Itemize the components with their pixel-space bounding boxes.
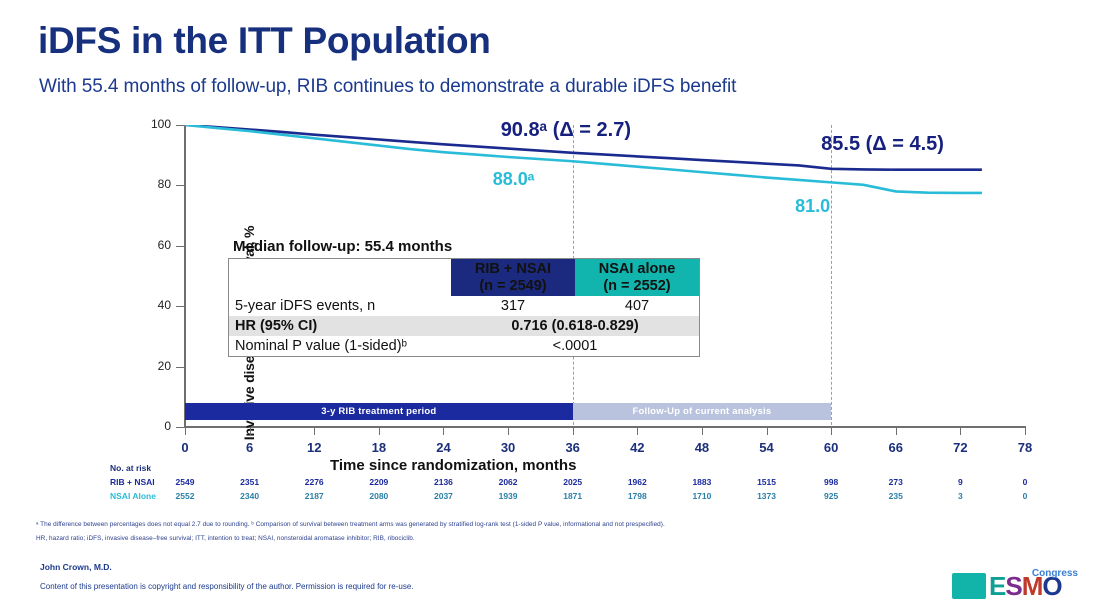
x-tick [443,427,444,435]
x-tick-label: 48 [687,440,717,455]
risk-value: 0 [1008,477,1042,487]
table-row: 5-year iDFS events, n 317 407 [229,296,700,316]
risk-value: 2080 [362,491,396,501]
x-tick [960,427,961,435]
table-header-rib-line2: (n = 2549) [457,278,569,295]
y-tick-label: 100 [129,117,171,131]
y-tick-label: 0 [129,419,171,433]
y-tick-label: 20 [129,359,171,373]
risk-value: 2351 [233,477,267,487]
footnote-line-2: HR, hazard ratio; iDFS, invasive disease… [36,534,796,544]
x-tick [573,427,574,435]
y-tick [176,306,185,307]
table-header-rib: RIB + NSAI (n = 2549) [451,259,575,297]
x-tick-label: 0 [170,440,200,455]
x-tick [767,427,768,435]
risk-value: 2209 [362,477,396,487]
y-tick [176,246,185,247]
risk-value: 1515 [750,477,784,487]
x-tick-label: 66 [881,440,911,455]
risk-value: 2552 [168,491,202,501]
x-tick-label: 6 [235,440,265,455]
risk-value: 2187 [297,491,331,501]
row-label-idfs-events: 5-year iDFS events, n [229,296,452,316]
esmo-logo-mark [952,573,986,599]
x-tick [185,427,186,435]
x-tick-label: 36 [558,440,588,455]
table-header-rib-line1: RIB + NSAI [457,261,569,278]
curve-annotation: 81.0 [795,196,830,217]
table-header-nsai: NSAI alone (n = 2552) [575,259,700,297]
y-tick [176,427,185,428]
table-row: Nominal P value (1-sided)ᵇ <.0001 [229,336,700,357]
x-axis-title: Time since randomization, months [330,457,576,474]
risk-value: 1883 [685,477,719,487]
cell-idfs-events-nsai: 407 [575,296,700,316]
risk-value: 1962 [620,477,654,487]
risk-row-label: RIB + NSAI [110,477,155,487]
table-corner-cell [229,259,452,297]
y-tick-label: 40 [129,298,171,312]
page-subtitle: With 55.4 months of follow-up, RIB conti… [39,76,736,98]
risk-value: 1871 [556,491,590,501]
risk-value: 9 [943,477,977,487]
esmo-logo: ESMO Congress [952,566,1080,606]
y-tick [176,367,185,368]
x-tick [637,427,638,435]
cell-idfs-events-rib: 317 [451,296,575,316]
risk-value: 2025 [556,477,590,487]
y-tick [176,185,185,186]
risk-value: 1710 [685,491,719,501]
results-table: RIB + NSAI (n = 2549) NSAI alone (n = 25… [228,258,700,357]
cell-pvalue: <.0001 [451,336,700,357]
x-tick [1025,427,1026,435]
x-tick-label: 78 [1010,440,1040,455]
slide-root: iDFS in the ITT Population With 55.4 mon… [0,0,1098,616]
esmo-logo-congress: Congress [1032,568,1078,579]
risk-value: 1373 [750,491,784,501]
table-row: HR (95% CI) 0.716 (0.618-0.829) [229,316,700,336]
risk-value: 2340 [233,491,267,501]
risk-value: 2037 [426,491,460,501]
median-followup-label: Median follow-up: 55.4 months [233,238,452,255]
risk-value: 2276 [297,477,331,487]
table-header-nsai-line1: NSAI alone [581,261,693,278]
x-tick-label: 18 [364,440,394,455]
x-tick-label: 54 [752,440,782,455]
cell-hr-value: 0.716 (0.618-0.829) [451,316,700,336]
copyright-note: Content of this presentation is copyrigh… [40,582,414,591]
risk-table-header: No. at risk [110,463,151,473]
x-tick-label: 60 [816,440,846,455]
x-tick-label: 42 [622,440,652,455]
risk-value: 235 [879,491,913,501]
x-tick [508,427,509,435]
risk-value: 2062 [491,477,525,487]
footnote-line-1: ᵃ The difference between percentages doe… [36,520,796,530]
risk-value: 925 [814,491,848,501]
x-tick-label: 12 [299,440,329,455]
risk-row-label: NSAI Alone [110,491,156,501]
period-bar: 3-y RIB treatment period [185,403,573,420]
risk-value: 2549 [168,477,202,487]
x-tick-label: 24 [428,440,458,455]
y-tick-label: 80 [129,177,171,191]
row-label-pvalue: Nominal P value (1-sided)ᵇ [229,336,452,357]
risk-value: 273 [879,477,913,487]
x-tick [250,427,251,435]
curve-annotation: 90.8ᵃ (Δ = 2.7) [501,119,631,142]
risk-value: 1939 [491,491,525,501]
risk-value: 0 [1008,491,1042,501]
x-tick [314,427,315,435]
table-header-row: RIB + NSAI (n = 2549) NSAI alone (n = 25… [229,259,700,297]
x-tick [831,427,832,435]
row-label-hr: HR (95% CI) [229,316,452,336]
risk-value: 998 [814,477,848,487]
curve-annotation: 88.0ᵃ [493,169,535,190]
x-tick [702,427,703,435]
presenter-name: John Crown, M.D. [40,562,112,572]
x-tick [379,427,380,435]
risk-value: 1798 [620,491,654,501]
x-tick-label: 72 [945,440,975,455]
risk-value: 3 [943,491,977,501]
x-tick-label: 30 [493,440,523,455]
page-title: iDFS in the ITT Population [38,20,491,62]
y-tick-label: 60 [129,238,171,252]
x-tick [896,427,897,435]
period-bar: Follow-Up of current analysis [573,403,831,420]
risk-value: 2136 [426,477,460,487]
y-tick [176,125,185,126]
table-header-nsai-line2: (n = 2552) [581,278,693,295]
curve-annotation: 85.5 (Δ = 4.5) [821,133,944,156]
